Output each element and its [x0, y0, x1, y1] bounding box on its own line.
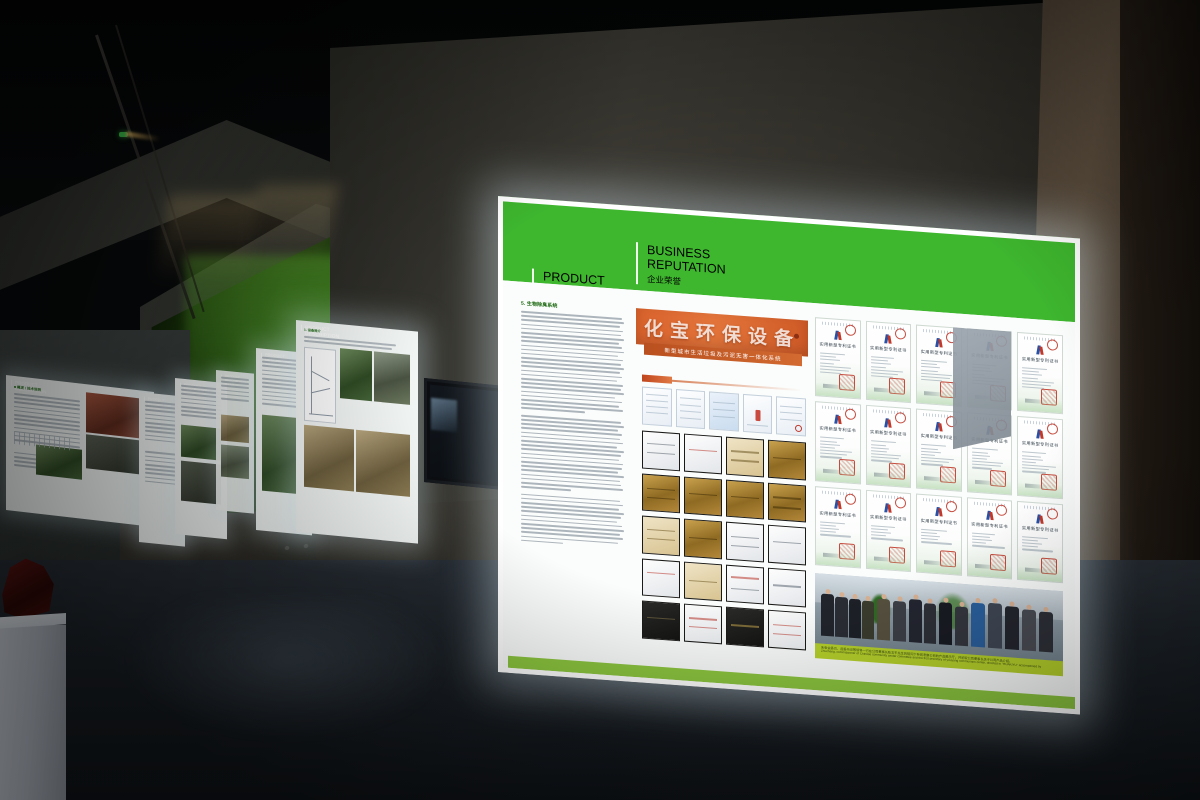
display-plinth [0, 625, 66, 800]
panel-photo-1 [340, 348, 372, 401]
panel-photo-4 [356, 430, 410, 497]
panel-photo-2 [181, 461, 221, 505]
exhibition-hall-scene: PRODUCT DESCRIPTION 产品说明 ■ 概述 / 技术说明 PRO… [0, 0, 1200, 800]
monitor-reflection [431, 398, 457, 433]
panel-photo-3 [36, 444, 82, 479]
panel-photo-2 [374, 351, 410, 404]
panel-body: 1. 设备简介 [296, 358, 418, 544]
panel-photo-1 [181, 425, 221, 461]
panel-photo-2 [86, 434, 146, 475]
panel-technical-diagram [304, 347, 336, 424]
panel-mid-a[interactable]: PRODUCT DESCRIPTION 产品说明 [216, 370, 254, 514]
panel-body [216, 390, 254, 514]
panel-near-left[interactable]: PRODUCT DESCRIPTION 产品说明 1. 设备简介 [296, 320, 418, 544]
panel-far-left[interactable]: PRODUCT DESCRIPTION 产品说明 ■ 概述 / 技术说明 [6, 375, 154, 527]
panel-photo-1 [86, 392, 146, 439]
panel-body-text [221, 376, 249, 401]
panel-body-text [181, 385, 221, 420]
panel-body-text [145, 401, 179, 486]
panel-body: ■ 概述 / 技术说明 [6, 403, 154, 527]
main-panel-frame [498, 196, 1080, 714]
main-display-panel[interactable]: PRODUCT DESCRIPTION 产品说明 BUSINESS REPUTA… [498, 196, 1080, 714]
panel-photo-3 [304, 425, 354, 492]
panel-photo-2 [221, 444, 249, 479]
panel-photo-1 [221, 414, 249, 443]
